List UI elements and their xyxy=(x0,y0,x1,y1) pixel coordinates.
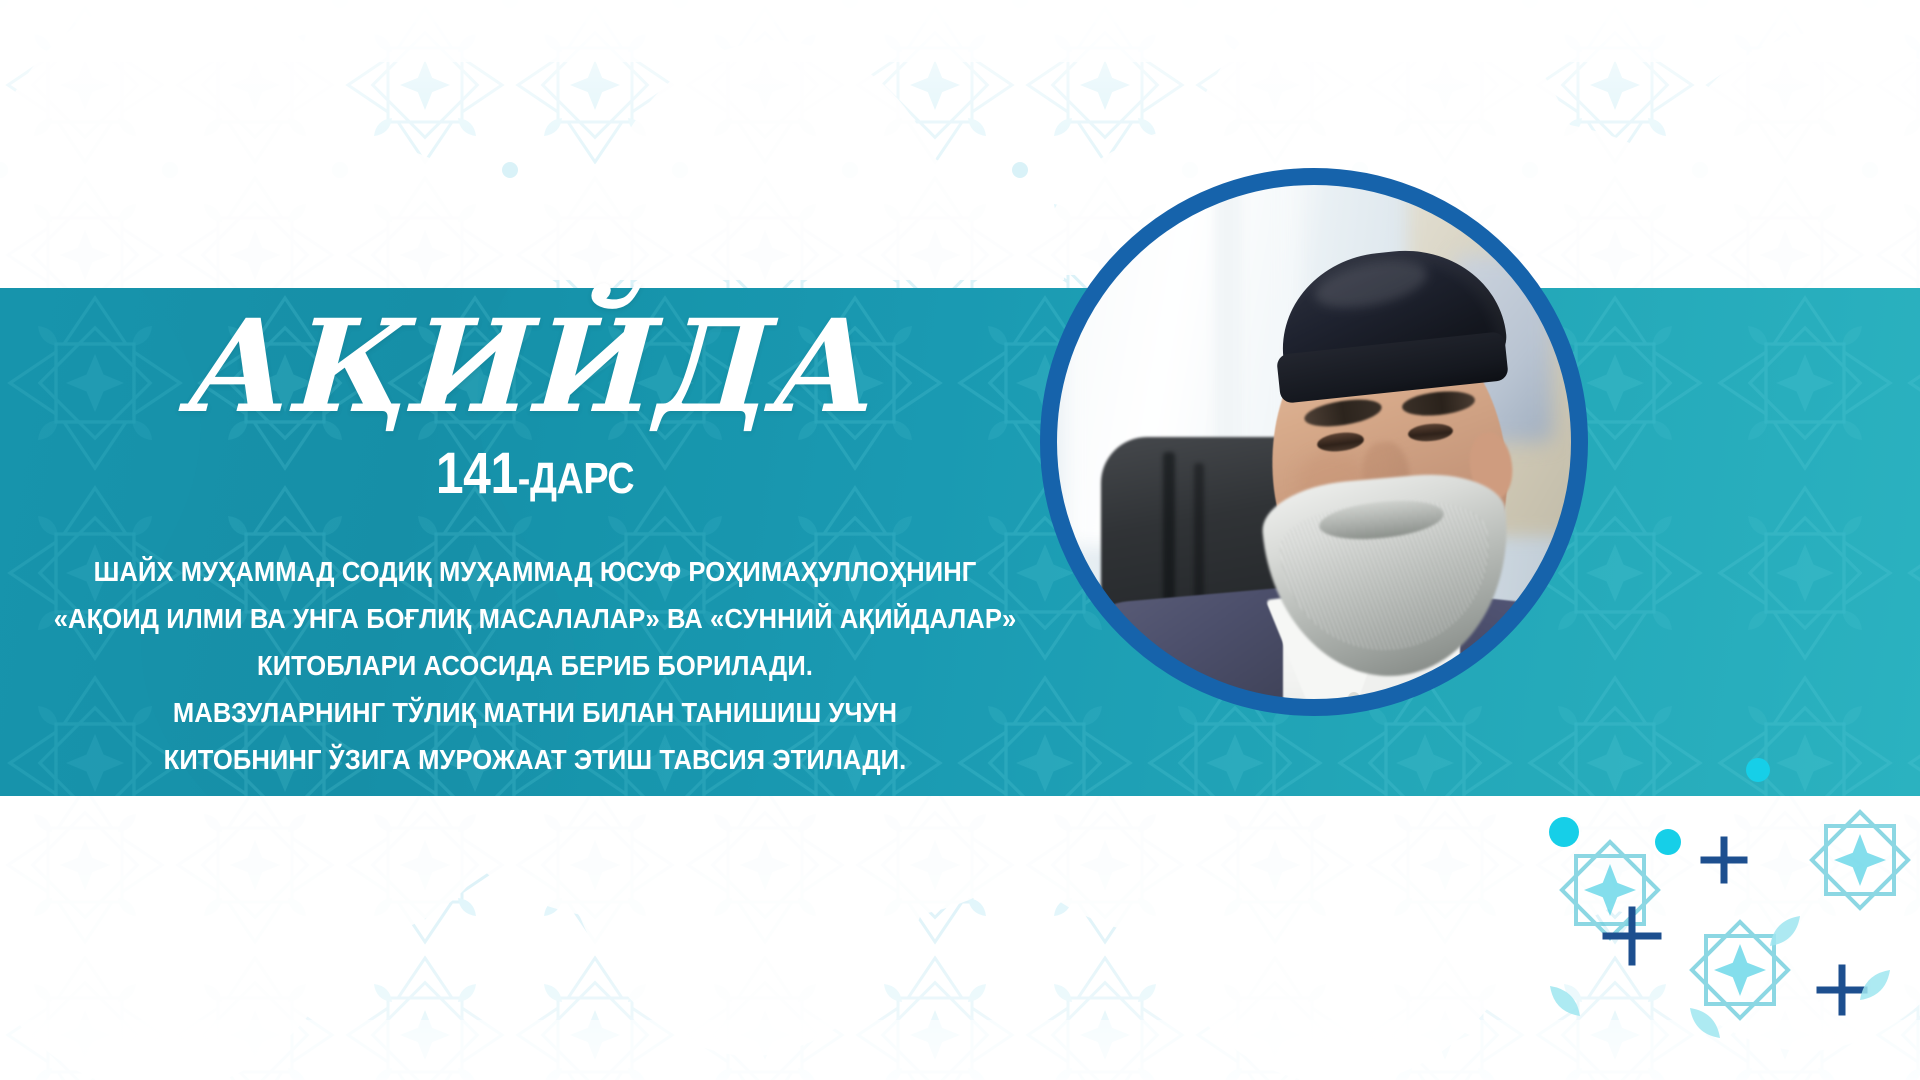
lesson-word: ДАРС xyxy=(530,454,634,503)
description-line-5: КИТОБНИНГ ЎЗИГА МУРОЖААТ ЭТИШ ТАВСИЯ ЭТИ… xyxy=(37,736,1032,783)
portrait-photo-composition xyxy=(1054,182,1574,702)
lesson-number: 141 xyxy=(436,441,518,506)
portrait-image xyxy=(1054,182,1574,702)
description-line-3: КИТОБЛАРИ АСОСИДА БЕРИБ БОРИЛАДИ. xyxy=(37,642,1032,689)
lesson-number-line: 141-ДАРС xyxy=(75,440,995,507)
title-block: АҚИЙДА 141-ДАРС xyxy=(0,300,1070,507)
description-line-1: ШАЙХ МУҲАММАД СОДИҚ МУҲАММАД ЮСУФ РОҲИМА… xyxy=(37,548,1032,595)
description-block: ШАЙХ МУҲАММАД СОДИҚ МУҲАММАД ЮСУФ РОҲИМА… xyxy=(0,548,1070,783)
page-title: АҚИЙДА xyxy=(0,300,1075,434)
description-line-2: «АҚОИД ИЛМИ ВА УНГА БОҒЛИҚ МАСАЛАЛАР» ВА… xyxy=(37,595,1032,642)
description-line-4: МАВЗУЛАРНИНГ ТЎЛИҚ МАТНИ БИЛАН ТАНИШИШ У… xyxy=(37,689,1032,736)
corner-rosette-decor-icon xyxy=(1490,740,1920,1080)
lesson-separator: - xyxy=(518,454,530,503)
banner-stage: АҚИЙДА 141-ДАРС ШАЙХ МУҲАММАД СОДИҚ МУҲА… xyxy=(0,0,1920,1080)
portrait xyxy=(1040,168,1588,716)
corner-decor xyxy=(1490,740,1920,1080)
